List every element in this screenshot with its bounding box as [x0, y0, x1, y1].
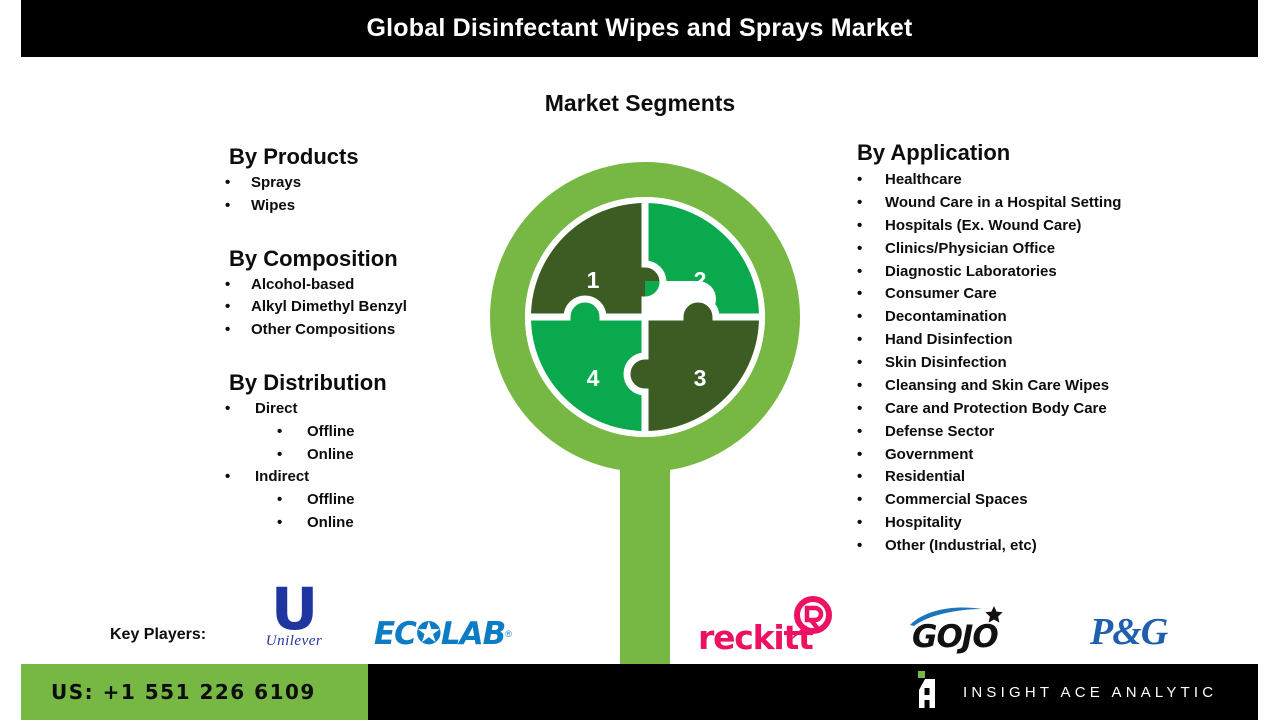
insight-ace-analytic-logo [915, 670, 945, 715]
segment-block-distribution: By Distribution Direct Offline Online In… [225, 370, 505, 535]
puzzle-label-4: 4 [587, 365, 600, 391]
segment-list-distribution-indirect: Indirect [225, 466, 505, 489]
list-item-label: Hand Disinfection [885, 329, 1013, 352]
segment-heading-composition: By Composition [225, 246, 505, 272]
list-item: Direct [225, 398, 505, 421]
bullet-dot [857, 444, 885, 467]
bullet-dot [277, 489, 307, 512]
ecolab-wordmark: EC✪LAB [374, 616, 505, 652]
list-item: Other (Industrial, etc) [857, 535, 1257, 558]
bullet-dot [857, 512, 885, 535]
list-item-label: Hospitals (Ex. Wound Care) [885, 215, 1081, 238]
list-item: Consumer Care [857, 283, 1257, 306]
bullet-dot [277, 421, 307, 444]
list-item-label: Other Compositions [251, 319, 395, 342]
bullet-dot [225, 398, 255, 421]
list-item: Alkyl Dimethyl Benzyl [225, 296, 505, 319]
list-item-label: Residential [885, 466, 965, 489]
bullet-dot [857, 535, 885, 558]
segment-list-products: Sprays Wipes [225, 172, 505, 218]
bullet-dot [857, 238, 885, 261]
reckitt-swirl-icon [786, 596, 834, 647]
segment-block-composition: By Composition Alcohol-based Alkyl Dimet… [225, 246, 505, 342]
list-item-label: Online [307, 512, 354, 535]
right-segments-column: By Application Healthcare Wound Care in … [857, 140, 1257, 558]
unilever-logo: U Unilever [248, 583, 340, 665]
bullet-dot [225, 172, 251, 195]
list-item-label: Alcohol-based [251, 274, 354, 297]
list-item: Decontamination [857, 306, 1257, 329]
key-players-label: Key Players: [110, 626, 206, 644]
bullet-dot [277, 512, 307, 535]
bullet-dot [857, 215, 885, 238]
list-item-label: Commercial Spaces [885, 489, 1028, 512]
list-item: Offline [277, 489, 505, 512]
footer-brand: INSIGHT ACE ANALYTIC [915, 664, 1217, 720]
left-segments-column: By Products Sprays Wipes By Composition … [225, 144, 505, 557]
list-item-label: Care and Protection Body Care [885, 398, 1107, 421]
list-item: Offline [277, 421, 505, 444]
bullet-dot [857, 169, 885, 192]
list-item-label: Offline [307, 421, 355, 444]
section-title: Market Segments [0, 90, 1280, 117]
list-item: Sprays [225, 172, 505, 195]
unilever-wordmark: Unilever [248, 633, 340, 650]
ecolab-logo: EC✪LAB ® [374, 618, 512, 650]
bullet-dot [857, 352, 885, 375]
puzzle-label-3: 3 [694, 365, 707, 391]
list-item: Cleansing and Skin Care Wipes [857, 375, 1257, 398]
bullet-dot [225, 466, 255, 489]
list-item: Hospitals (Ex. Wound Care) [857, 215, 1257, 238]
list-item: Residential [857, 466, 1257, 489]
list-item: Defense Sector [857, 421, 1257, 444]
pg-logo: P&G [1090, 612, 1167, 652]
gojo-wordmark: GOJO [912, 619, 998, 655]
segment-list-composition: Alcohol-based Alkyl Dimethyl Benzyl Othe… [225, 274, 505, 342]
puzzle-label-1: 1 [587, 267, 600, 293]
segment-list-application: Healthcare Wound Care in a Hospital Sett… [857, 169, 1257, 558]
list-item: Wound Care in a Hospital Setting [857, 192, 1257, 215]
list-item: Indirect [225, 466, 505, 489]
list-item: Hospitality [857, 512, 1257, 535]
list-item: Online [277, 512, 505, 535]
bullet-dot [857, 375, 885, 398]
list-item-label: Diagnostic Laboratories [885, 261, 1057, 284]
bullet-dot [277, 444, 307, 467]
list-item: Other Compositions [225, 319, 505, 342]
bullet-dot [225, 274, 251, 297]
page-title: Global Disinfectant Wipes and Sprays Mar… [366, 14, 912, 43]
segment-sublist-indirect: Offline Online [225, 489, 505, 535]
segment-sublist-direct: Offline Online [225, 421, 505, 467]
bullet-dot [857, 398, 885, 421]
bullet-dot [857, 466, 885, 489]
list-item-label: Government [885, 444, 973, 467]
list-item-label: Consumer Care [885, 283, 997, 306]
list-item: Diagnostic Laboratories [857, 261, 1257, 284]
footer-phone-number[interactable]: US: +1 551 226 6109 [21, 680, 316, 704]
bullet-dot [857, 261, 885, 284]
list-item-label: Online [307, 444, 354, 467]
list-item: Care and Protection Body Care [857, 398, 1257, 421]
unilever-letter-u: U [248, 583, 340, 635]
list-item: Alcohol-based [225, 274, 505, 297]
bullet-dot [857, 329, 885, 352]
list-item-label: Cleansing and Skin Care Wipes [885, 375, 1109, 398]
footer-brand-name: INSIGHT ACE ANALYTIC [945, 684, 1217, 701]
bullet-dot [225, 319, 251, 342]
list-item-label: Defense Sector [885, 421, 994, 444]
segment-heading-products: By Products [225, 144, 505, 170]
header-bar: Global Disinfectant Wipes and Sprays Mar… [21, 0, 1258, 57]
list-item-label: Offline [307, 489, 355, 512]
list-item-label: Wipes [251, 195, 295, 218]
list-item: Healthcare [857, 169, 1257, 192]
ecolab-registered-mark: ® [505, 629, 512, 639]
list-item-label: Direct [255, 398, 298, 421]
segment-heading-application: By Application [857, 140, 1257, 166]
list-item-label: Sprays [251, 172, 301, 195]
bullet-dot [225, 195, 251, 218]
list-item-label: Healthcare [885, 169, 962, 192]
bullet-dot [857, 489, 885, 512]
segment-list-distribution: Direct [225, 398, 505, 421]
list-item-label: Skin Disinfection [885, 352, 1007, 375]
list-item-label: Clinics/Physician Office [885, 238, 1055, 261]
bullet-dot [857, 283, 885, 306]
bullet-dot [225, 296, 251, 319]
infographic-page: Global Disinfectant Wipes and Sprays Mar… [0, 0, 1280, 720]
bullet-dot [857, 306, 885, 329]
footer-contact-block: US: +1 551 226 6109 [21, 664, 368, 720]
list-item: Commercial Spaces [857, 489, 1257, 512]
list-item-label: Decontamination [885, 306, 1007, 329]
list-item: Skin Disinfection [857, 352, 1257, 375]
list-item-label: Wound Care in a Hospital Setting [885, 192, 1121, 215]
list-item: Online [277, 444, 505, 467]
segment-heading-distribution: By Distribution [225, 370, 505, 396]
list-item-label: Hospitality [885, 512, 962, 535]
magnifier-handle [620, 450, 670, 665]
list-item-label: Alkyl Dimethyl Benzyl [251, 296, 407, 319]
bullet-dot [857, 192, 885, 215]
magnifying-glass-puzzle-icon: 1 2 3 4 [480, 160, 810, 665]
list-item: Clinics/Physician Office [857, 238, 1257, 261]
pg-wordmark: P&G [1090, 612, 1167, 652]
bullet-dot [857, 421, 885, 444]
puzzle-label-2: 2 [694, 267, 707, 293]
segment-block-products: By Products Sprays Wipes [225, 144, 505, 218]
list-item: Government [857, 444, 1257, 467]
list-item: Hand Disinfection [857, 329, 1257, 352]
list-item-label: Other (Industrial, etc) [885, 535, 1037, 558]
list-item-label: Indirect [255, 466, 309, 489]
list-item: Wipes [225, 195, 505, 218]
